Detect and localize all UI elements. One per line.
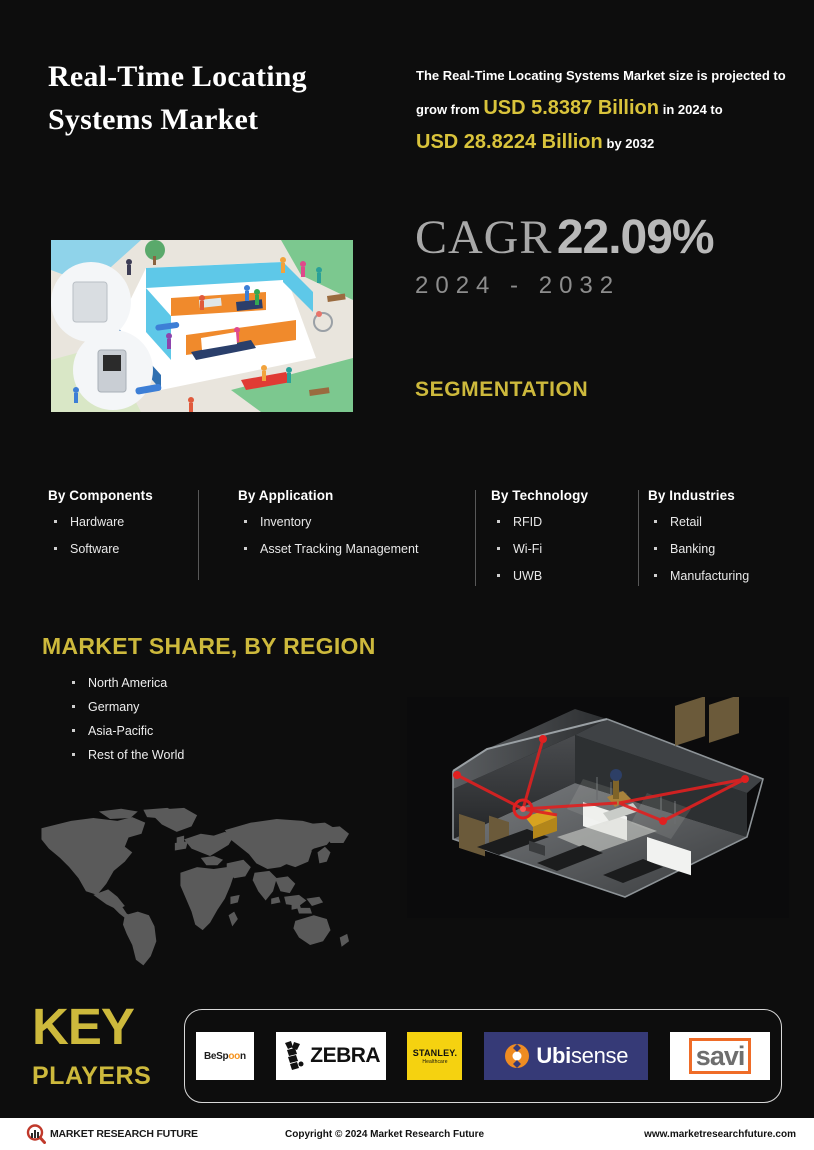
logo-savi[interactable]: savi (670, 1032, 770, 1080)
market-size-value-2024: USD 5.8387 Billion (483, 97, 659, 119)
segmentation-column-application: By Application Inventory Asset Tracking … (238, 488, 468, 569)
segmentation-heading: By Application (238, 488, 468, 503)
infographic-page: Real-Time Locating Systems Market The Re… (0, 0, 814, 1150)
segmentation-list: RFID Wi-Fi UWB (491, 515, 641, 583)
list-item: Wi-Fi (491, 542, 641, 556)
segmentation-list: Retail Banking Manufacturing (648, 515, 808, 583)
list-item: UWB (491, 569, 641, 583)
isometric-office-illustration (51, 240, 353, 412)
cagr-label: CAGR (415, 211, 552, 264)
bespoon-part2: oo (228, 1051, 240, 1062)
list-item: Hardware (48, 515, 218, 529)
logo-stanley-healthcare[interactable]: STANLEY. Healthcare (407, 1032, 462, 1080)
footer-brand: MARKET RESEARCH FUTURE (26, 1124, 198, 1144)
key-players-label-top: KEY (32, 1001, 134, 1052)
list-item: RFID (491, 515, 641, 529)
stanley-wordmark: STANLEY. (413, 1048, 457, 1058)
zebra-head-icon (281, 1041, 307, 1071)
footer-url[interactable]: www.marketresearchfuture.com (644, 1129, 796, 1140)
market-size-grow-from: grow from (416, 102, 480, 117)
page-title: Real-Time Locating Systems Market (48, 55, 378, 141)
segmentation-divider (475, 490, 476, 586)
segmentation-list: Inventory Asset Tracking Management (238, 515, 468, 556)
list-item: Retail (648, 515, 808, 529)
world-map (22, 806, 387, 982)
market-share-region-list: North America Germany Asia-Pacific Rest … (66, 676, 184, 772)
logo-ubisense[interactable]: Ubisense (484, 1032, 648, 1080)
footer-brand-text: MARKET RESEARCH FUTURE (50, 1128, 198, 1140)
list-item: North America (66, 676, 184, 690)
segmentation-heading: By Technology (491, 488, 641, 503)
logo-bespoon[interactable]: BeSpoon (196, 1032, 254, 1080)
segmentation-heading: By Industries (648, 488, 808, 503)
bespoon-part1: BeSp (204, 1051, 228, 1062)
list-item: Manufacturing (648, 569, 808, 583)
footer-copyright: Copyright © 2024 Market Research Future (285, 1129, 484, 1140)
list-item: Banking (648, 542, 808, 556)
cagr-value: 22.09% (557, 211, 714, 264)
market-size-statement: The Real-Time Locating Systems Market si… (416, 60, 786, 160)
ubisense-rest: sense (571, 1043, 628, 1068)
zebra-wordmark: ZEBRA (310, 1044, 380, 1068)
segmentation-title: SEGMENTATION (415, 378, 588, 402)
cagr-block: CAGR 22.09% (415, 210, 714, 265)
stanley-subtitle: Healthcare (422, 1059, 447, 1065)
market-size-mid: in 2024 to (663, 102, 723, 117)
market-size-value-2032: USD 28.8224 Billion (416, 131, 603, 153)
segmentation-divider (198, 490, 199, 580)
segmentation-column-components: By Components Hardware Software (48, 488, 218, 569)
list-item: Rest of the World (66, 748, 184, 762)
list-item: Germany (66, 700, 184, 714)
segmentation-heading: By Components (48, 488, 218, 503)
logo-zebra[interactable]: ZEBRA (276, 1032, 386, 1080)
segmentation-divider (638, 490, 639, 586)
key-players-label-bottom: PLAYERS (32, 1063, 151, 1090)
ubisense-mark-icon (504, 1043, 530, 1069)
segmentation-column-technology: By Technology RFID Wi-Fi UWB (491, 488, 641, 596)
market-size-tail: by 2032 (607, 136, 655, 151)
market-research-future-logo-icon (26, 1124, 46, 1144)
segmentation-column-industries: By Industries Retail Banking Manufacturi… (648, 488, 808, 596)
market-share-title: MARKET SHARE, BY REGION (42, 633, 376, 660)
savi-wordmark: savi (696, 1041, 745, 1071)
list-item: Inventory (238, 515, 468, 529)
ubisense-bold: Ubi (536, 1043, 571, 1068)
savi-frame: savi (689, 1038, 752, 1074)
list-item: Asset Tracking Management (238, 542, 468, 556)
footer-bar: MARKET RESEARCH FUTURE Copyright © 2024 … (0, 1118, 814, 1150)
list-item: Software (48, 542, 218, 556)
key-players-logo-box: BeSpoon ZEBRA STANLEY. Healthcare (184, 1009, 782, 1103)
segmentation-columns: By Components Hardware Software By Appli… (48, 488, 778, 598)
cagr-year-range: 2024 - 2032 (415, 272, 620, 300)
list-item: Asia-Pacific (66, 724, 184, 738)
warehouse-rtls-image (407, 697, 789, 918)
bespoon-part3: n (240, 1051, 246, 1062)
market-size-lead: The Real-Time Locating Systems Market si… (416, 68, 786, 83)
segmentation-list: Hardware Software (48, 515, 218, 556)
